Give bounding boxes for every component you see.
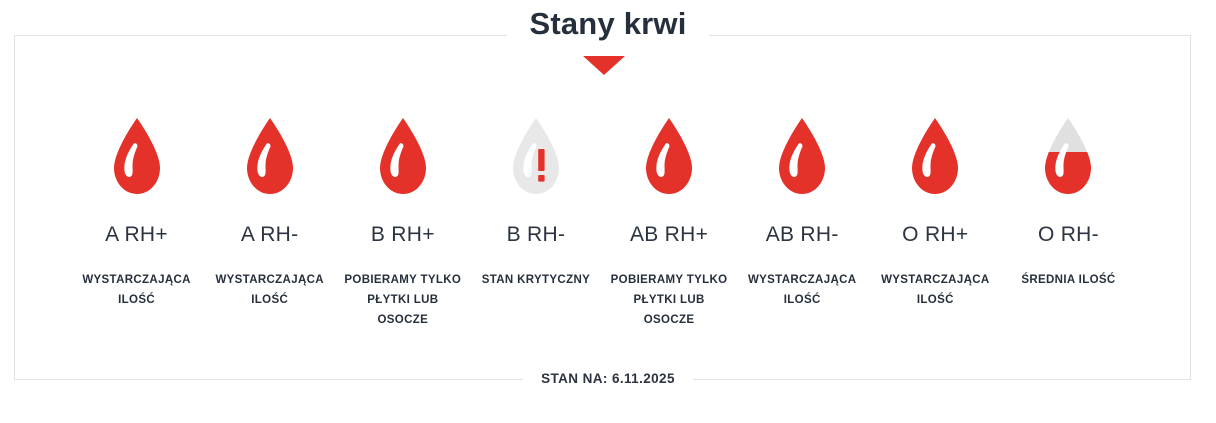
blood-type-label: A RH+ [105,223,168,247]
blood-level-item[interactable]: AB RH+ POBIERAMY TYLKO PŁYTKI LUB OSOCZE [603,118,736,330]
blood-status-label: WYSTARCZAJĄCA ILOŚĆ [77,270,197,310]
triangle-down-icon [583,56,625,75]
blood-level-item[interactable]: B RH- STAN KRYTYCZNY [469,118,602,290]
blood-type-label: B RH- [507,223,566,247]
blood-drop-icon [779,118,825,194]
blood-levels-list: A RH+ WYSTARCZAJĄCA ILOŚĆ A RH- WYSTARCZ… [14,118,1191,330]
blood-drop-half-icon [1045,118,1091,194]
blood-status-label: WYSTARCZAJĄCA ILOŚĆ [742,270,862,310]
blood-status-label: WYSTARCZAJĄCA ILOŚĆ [875,270,995,310]
blood-drop-icon [912,118,958,194]
blood-level-item[interactable]: O RH+ WYSTARCZAJĄCA ILOŚĆ [869,118,1002,310]
blood-level-item[interactable]: AB RH- WYSTARCZAJĄCA ILOŚĆ [736,118,869,310]
blood-levels-widget: Stany krwi A RH+ WYSTARCZAJĄCA ILOŚĆ [0,0,1216,423]
blood-status-label: ŚREDNIA ILOŚĆ [1021,270,1115,290]
blood-type-label: O RH- [1038,223,1099,247]
blood-drop-icon [380,118,426,194]
blood-type-label: A RH- [241,223,299,247]
blood-status-label: STAN KRYTYCZNY [482,270,590,290]
blood-drop-icon [114,118,160,194]
blood-type-label: AB RH+ [630,223,708,247]
blood-drop-icon [247,118,293,194]
blood-level-item[interactable]: O RH- ŚREDNIA ILOŚĆ [1002,118,1135,290]
blood-status-label: POBIERAMY TYLKO PŁYTKI LUB OSOCZE [343,270,463,330]
blood-drop-icon [646,118,692,194]
blood-type-label: O RH+ [902,223,968,247]
blood-level-item[interactable]: B RH+ POBIERAMY TYLKO PŁYTKI LUB OSOCZE [336,118,469,330]
blood-level-item[interactable]: A RH- WYSTARCZAJĄCA ILOŚĆ [203,118,336,310]
blood-status-label: WYSTARCZAJĄCA ILOŚĆ [210,270,330,310]
blood-level-item[interactable]: A RH+ WYSTARCZAJĄCA ILOŚĆ [70,118,203,310]
blood-type-label: AB RH- [766,223,839,247]
blood-drop-warning-icon [513,118,559,194]
blood-status-label: POBIERAMY TYLKO PŁYTKI LUB OSOCZE [609,270,729,330]
blood-type-label: B RH+ [371,223,435,247]
